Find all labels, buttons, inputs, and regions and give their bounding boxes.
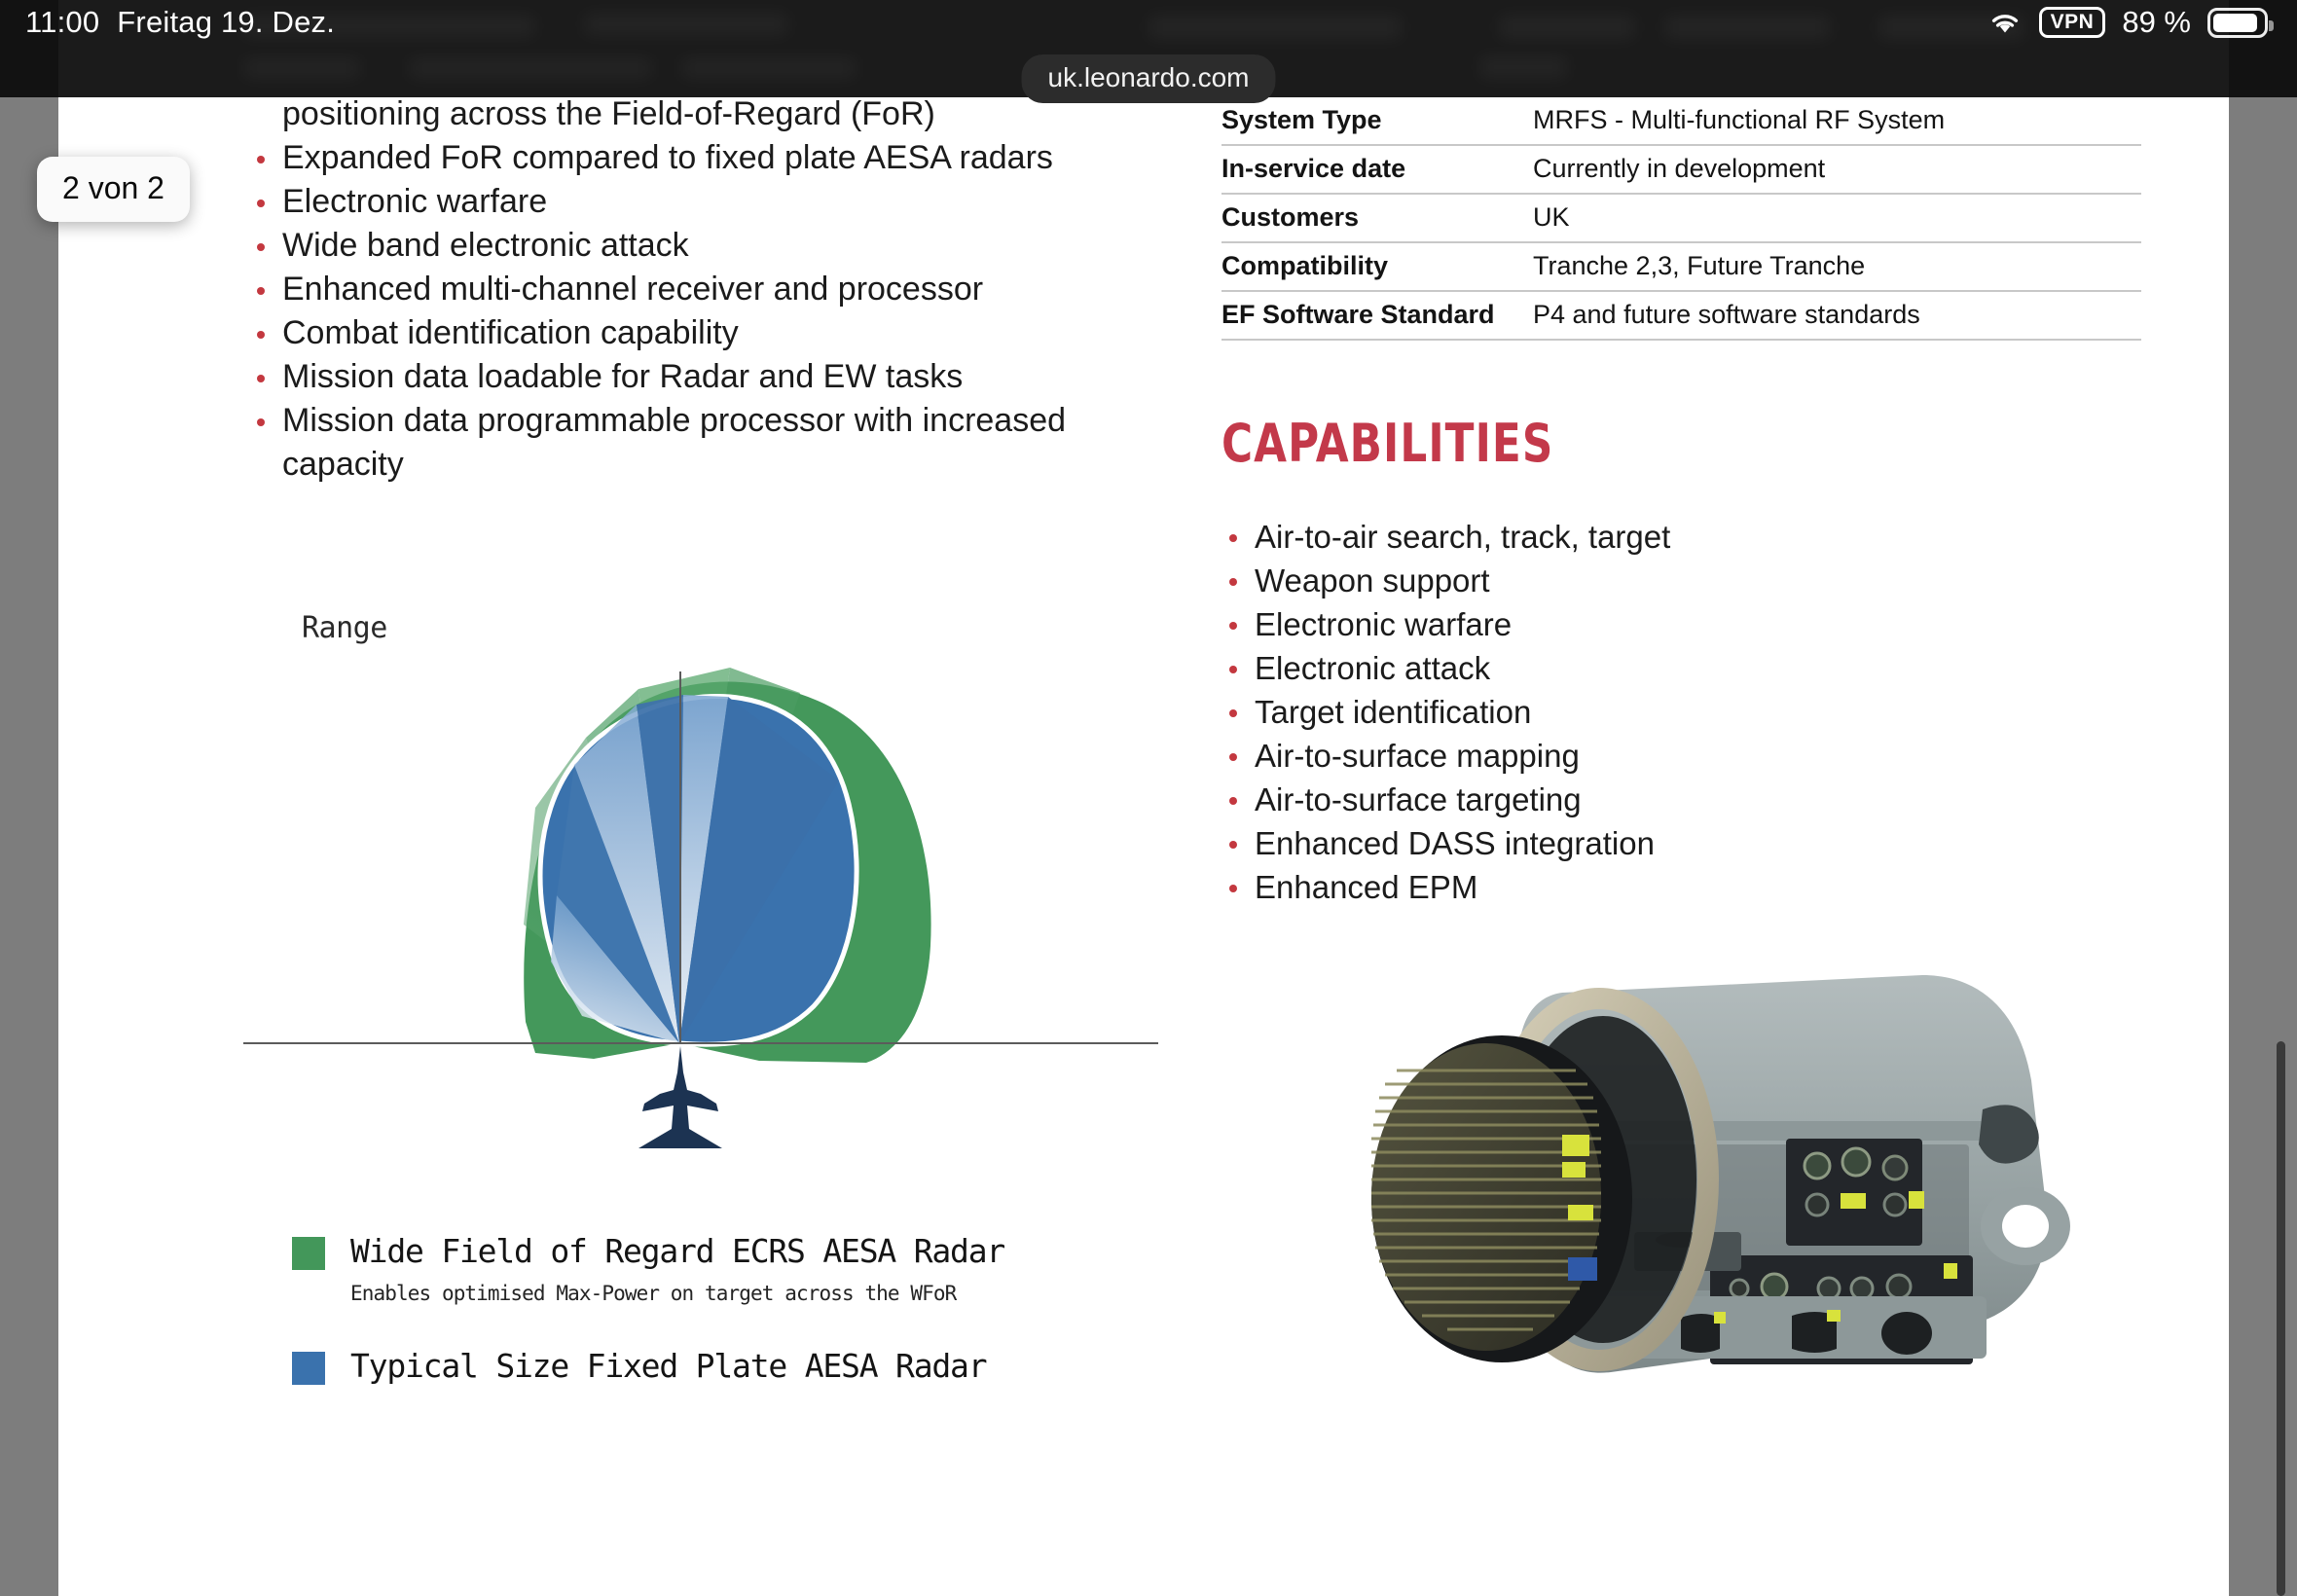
list-item: Electronic warfare bbox=[243, 180, 1158, 224]
browser-viewport: positioning across the Field-of-Regard (… bbox=[0, 0, 2297, 1596]
list-item: Weapon support bbox=[1221, 559, 2141, 602]
list-item: Expanded FoR compared to fixed plate AES… bbox=[243, 136, 1158, 180]
spec-value: UK bbox=[1523, 194, 2141, 242]
status-time: 11:00 bbox=[25, 5, 99, 40]
aesa-array-face bbox=[1371, 1043, 1601, 1351]
feature-continuation-line: positioning across the Field-of-Regard (… bbox=[243, 92, 1158, 136]
range-axis-label: Range bbox=[302, 611, 387, 645]
battery-icon bbox=[2207, 8, 2268, 38]
list-item: Mission data programmable processor with… bbox=[243, 399, 1158, 487]
features-column: positioning across the Field-of-Regard (… bbox=[243, 92, 1158, 487]
spec-value: Tranche 2,3, Future Tranche bbox=[1523, 242, 2141, 291]
list-item: Electronic warfare bbox=[1221, 602, 2141, 646]
diagram-legend: Wide Field of Regard ECRS AESA Radar Ena… bbox=[292, 1231, 1168, 1387]
list-item: Air-to-surface targeting bbox=[1221, 778, 2141, 821]
battery-percent: 89 % bbox=[2122, 5, 2191, 40]
table-row: System Type MRFS - Multi-functional RF S… bbox=[1221, 97, 2141, 145]
capabilities-list: Air-to-air search, track, target Weapon … bbox=[1221, 515, 2141, 909]
ecrs-radar-hardware-photo bbox=[1241, 954, 2107, 1401]
legend-spacer bbox=[292, 1305, 1168, 1346]
list-item: Air-to-air search, track, target bbox=[1221, 515, 2141, 559]
spec-and-capabilities-column: System Type MRFS - Multi-functional RF S… bbox=[1221, 97, 2141, 909]
table-row: In-service date Currently in development bbox=[1221, 145, 2141, 194]
list-item: Target identification bbox=[1221, 690, 2141, 734]
spec-value: MRFS - Multi-functional RF System bbox=[1523, 97, 2141, 145]
spec-key: Compatibility bbox=[1221, 242, 1523, 291]
list-item: Air-to-surface mapping bbox=[1221, 734, 2141, 778]
legend-swatch-green bbox=[292, 1237, 325, 1270]
status-clock-group: 11:00 Freitag 19. Dez. bbox=[25, 5, 335, 40]
page-indicator-badge: 2 von 2 bbox=[37, 157, 190, 222]
status-date: Freitag 19. Dez. bbox=[117, 5, 335, 40]
list-item: Combat identification capability bbox=[243, 311, 1158, 355]
spec-key: EF Software Standard bbox=[1221, 291, 1523, 340]
list-item: Mission data loadable for Radar and EW t… bbox=[243, 355, 1158, 399]
list-item: Wide band electronic attack bbox=[243, 224, 1158, 268]
status-indicators-group: VPN 89 % bbox=[1987, 5, 2268, 40]
legend-label-green: Wide Field of Regard ECRS AESA Radar bbox=[350, 1231, 1004, 1272]
legend-label-blue: Typical Size Fixed Plate AESA Radar bbox=[350, 1346, 986, 1387]
features-list: positioning across the Field-of-Regard (… bbox=[243, 92, 1158, 487]
document-page: positioning across the Field-of-Regard (… bbox=[58, 0, 2229, 1596]
table-row: EF Software Standard P4 and future softw… bbox=[1221, 291, 2141, 340]
address-bar[interactable]: uk.leonardo.com bbox=[1021, 54, 1275, 103]
table-row: Customers UK bbox=[1221, 194, 2141, 242]
list-item: Electronic attack bbox=[1221, 646, 2141, 690]
legend-entry-blue: Typical Size Fixed Plate AESA Radar bbox=[292, 1346, 1168, 1387]
spec-value: P4 and future software standards bbox=[1523, 291, 2141, 340]
capabilities-heading: CAPABILITIES bbox=[1221, 413, 2050, 474]
list-item: Enhanced DASS integration bbox=[1221, 821, 2141, 865]
vpn-badge: VPN bbox=[2039, 7, 2106, 38]
radar-coverage-diagram: Range bbox=[243, 603, 1158, 1148]
spec-key: System Type bbox=[1221, 97, 1523, 145]
vertical-scrollbar[interactable] bbox=[2277, 1041, 2285, 1596]
table-row: Compatibility Tranche 2,3, Future Tranch… bbox=[1221, 242, 2141, 291]
list-item: Enhanced EPM bbox=[1221, 865, 2141, 909]
legend-entry-green: Wide Field of Regard ECRS AESA Radar bbox=[292, 1231, 1168, 1272]
specification-table: System Type MRFS - Multi-functional RF S… bbox=[1221, 97, 2141, 341]
fighter-jet-icon bbox=[633, 1046, 728, 1148]
spec-key: Customers bbox=[1221, 194, 1523, 242]
wifi-icon bbox=[1987, 9, 2023, 36]
spec-value: Currently in development bbox=[1523, 145, 2141, 194]
system-status-bar: 11:00 Freitag 19. Dez. VPN 89 % bbox=[0, 0, 2297, 45]
coverage-lobes-svg bbox=[243, 603, 1158, 1148]
legend-swatch-blue bbox=[292, 1352, 325, 1385]
legend-sublabel-green: Enables optimised Max-Power on target ac… bbox=[350, 1282, 1168, 1305]
spec-key: In-service date bbox=[1221, 145, 1523, 194]
list-item: Enhanced multi-channel receiver and proc… bbox=[243, 268, 1158, 311]
